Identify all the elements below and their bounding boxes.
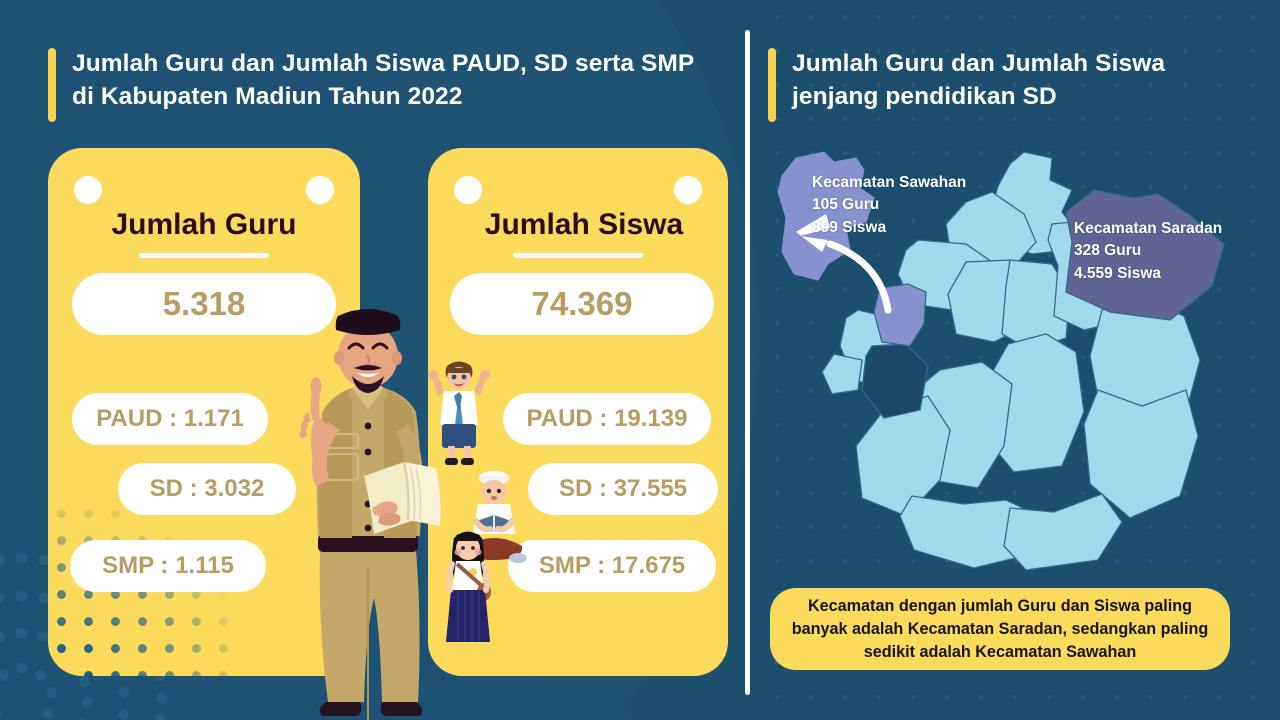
map-label-saradan: Kecamatan Saradan 328 Guru 4.559 Siswa: [1074, 218, 1222, 285]
right-panel-title: Jumlah Guru dan Jumlah Siswa jenjang pen…: [768, 48, 1238, 122]
card-notch-left-icon: [74, 176, 102, 204]
map-label-saradan-guru: 328 Guru: [1074, 240, 1222, 262]
map-kabupaten-madiun: Kecamatan Sawahan 105 Guru 899 Siswa Kec…: [762, 140, 1262, 572]
map-label-sawahan-siswa: 899 Siswa: [812, 217, 966, 239]
title-accent-bar: [768, 48, 776, 122]
card-heading-underline: [139, 253, 269, 258]
left-panel-title: Jumlah Guru dan Jumlah Siswa PAUD, SD se…: [48, 48, 708, 122]
guru-smp-value: SMP : 1.115: [70, 540, 266, 592]
teacher-illustration: [268, 300, 468, 720]
summary-note-text: Kecamatan dengan jumlah Guru dan Siswa p…: [784, 595, 1216, 664]
map-district-southeast-bottom: [1004, 494, 1122, 570]
card-heading-guru: Jumlah Guru: [48, 208, 360, 242]
map-label-sawahan-guru: 105 Guru: [812, 194, 966, 216]
card-notch-left-icon: [454, 176, 482, 204]
teacher-svg: [268, 300, 468, 720]
card-notch-right-icon: [306, 176, 334, 204]
card-heading-underline: [513, 253, 643, 258]
card-notch-right-icon: [674, 176, 702, 204]
title-accent-bar: [48, 48, 56, 122]
card-heading-siswa: Jumlah Siswa: [434, 208, 728, 242]
map-label-sawahan: Kecamatan Sawahan 105 Guru 899 Siswa: [812, 172, 966, 239]
right-panel-title-text: Jumlah Guru dan Jumlah Siswa jenjang pen…: [792, 48, 1238, 113]
summary-note-callout: Kecamatan dengan jumlah Guru dan Siswa p…: [770, 588, 1230, 670]
map-label-saradan-name: Kecamatan Saradan: [1074, 218, 1222, 240]
guru-paud-value: PAUD : 1.171: [72, 393, 268, 445]
panel-divider: [745, 30, 750, 695]
map-district-west-small: [822, 354, 862, 394]
map-label-saradan-siswa: 4.559 Siswa: [1074, 263, 1222, 285]
left-panel-title-text: Jumlah Guru dan Jumlah Siswa PAUD, SD se…: [72, 48, 708, 113]
infographic-canvas: Jumlah Guru dan Jumlah Siswa PAUD, SD se…: [0, 0, 1280, 720]
map-label-sawahan-name: Kecamatan Sawahan: [812, 172, 966, 194]
siswa-total-value: 74.369: [450, 273, 714, 335]
map-district-dark: [862, 344, 928, 418]
